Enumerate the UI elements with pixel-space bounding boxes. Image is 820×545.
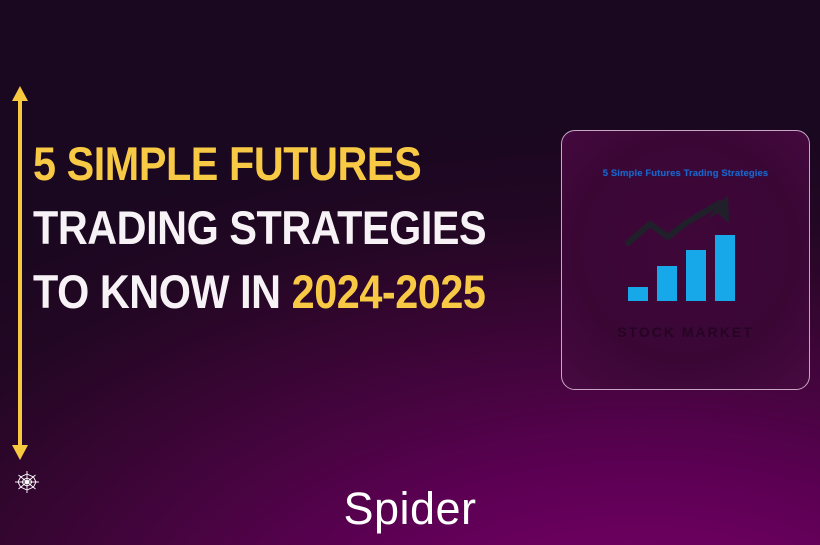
headline-line-1: 5 SIMPLE FUTURES	[33, 132, 491, 196]
bar-1	[628, 287, 648, 301]
arrow-shaft	[18, 100, 22, 446]
brand-logo: Spider	[0, 470, 820, 534]
headline-line-3-prefix: TO KNOW IN	[33, 265, 292, 318]
headline-block: 5 SIMPLE FUTURES TRADING STRATEGIES TO K…	[33, 132, 553, 324]
spiderweb-icon	[14, 470, 40, 494]
bar-2	[657, 266, 677, 301]
arrow-head-down	[12, 445, 28, 460]
bar-3	[686, 250, 706, 301]
headline-line-3-years: 2024-2025	[292, 265, 486, 318]
card-watermark-text: STOCK MARKET	[562, 324, 809, 340]
poster-canvas: 5 SIMPLE FUTURES TRADING STRATEGIES TO K…	[0, 0, 820, 545]
brand-name: Spider	[343, 484, 476, 534]
arrow-head-up	[12, 86, 28, 101]
vertical-double-arrow-icon	[12, 86, 28, 460]
trend-line	[628, 203, 720, 243]
headline-line-3: TO KNOW IN 2024-2025	[33, 260, 491, 324]
card-title: 5 Simple Futures Trading Strategies	[562, 168, 809, 179]
bar-4	[715, 235, 735, 301]
headline-line-2: TRADING STRATEGIES	[33, 196, 491, 260]
thumbnail-card: 5 Simple Futures Trading Strategies STOC…	[561, 130, 810, 390]
bar-chart-graphic	[624, 193, 754, 303]
